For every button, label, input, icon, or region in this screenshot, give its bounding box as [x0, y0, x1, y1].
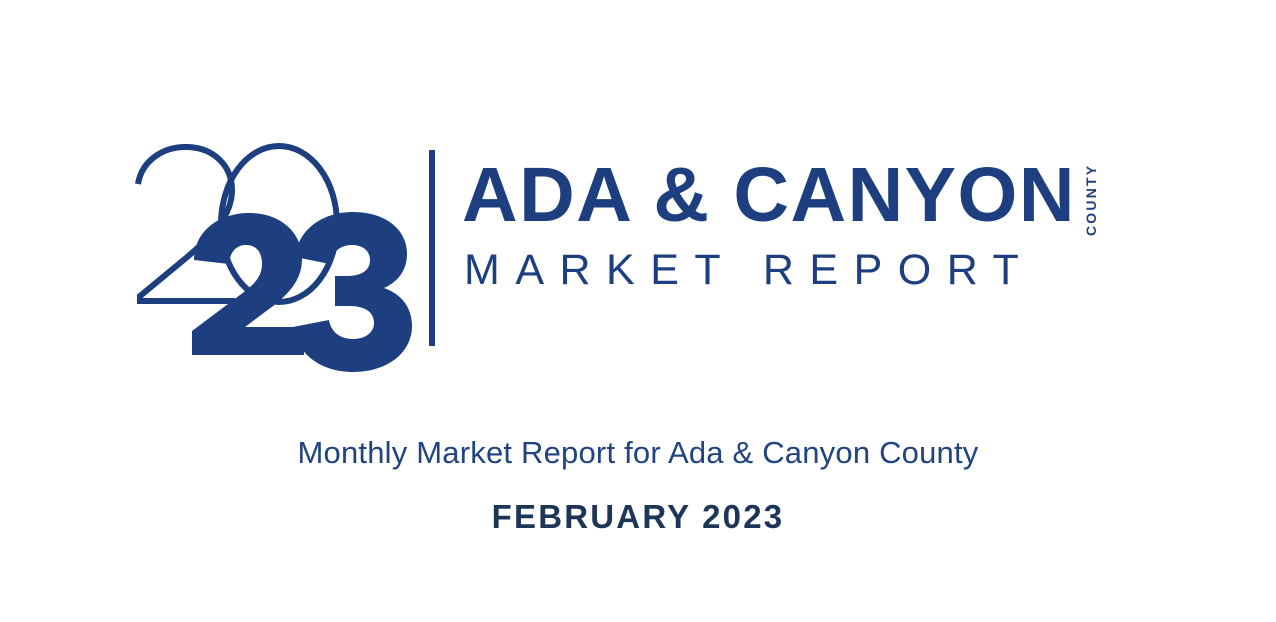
report-subtitle: Monthly Market Report for Ada & Canyon C… [0, 435, 1276, 471]
report-cover-page: ADA & CANYON COUNTY MARKET REPORT Monthl… [0, 0, 1276, 622]
logo-wordmark-county: COUNTY [1083, 164, 1099, 236]
report-date: FEBRUARY 2023 [0, 498, 1276, 536]
logo-divider-rule [429, 150, 435, 346]
logo-wordmark-main: ADA & CANYON [462, 160, 1076, 231]
logo-wordmark: ADA & CANYON COUNTY MARKET REPORT [462, 152, 1142, 342]
logo-year-solid-two [192, 213, 304, 355]
logo-wordmark-sub: MARKET REPORT [464, 246, 1034, 295]
logo-year-mark [132, 140, 417, 355]
logo-wordmark-top-row: ADA & CANYON COUNTY [462, 160, 1099, 236]
brand-logo-lockup: ADA & CANYON COUNTY MARKET REPORT [0, 132, 1276, 357]
